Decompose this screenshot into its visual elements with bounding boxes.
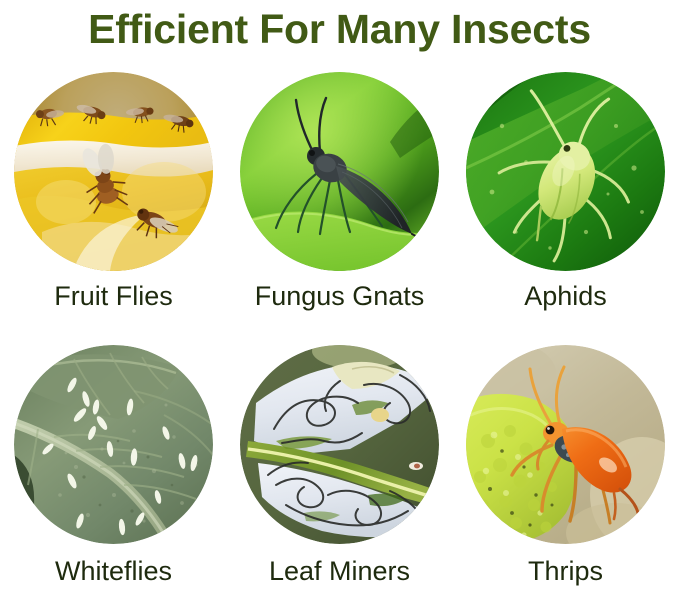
insect-cell-leaf-miners[interactable]: Leaf Miners — [240, 345, 439, 610]
insect-label: Fruit Flies — [54, 279, 173, 313]
insect-cell-fungus-gnats[interactable]: Fungus Gnats — [240, 72, 439, 337]
insect-label: Aphids — [524, 279, 607, 313]
insect-label: Leaf Miners — [269, 554, 410, 588]
aphid-photo — [466, 72, 665, 271]
insect-cell-thrips[interactable]: Thrips — [466, 345, 665, 610]
insect-row-2: Whiteflies — [0, 345, 679, 610]
insect-row-1: Fruit Flies — [0, 72, 679, 337]
fungus-gnat-photo — [240, 72, 439, 271]
insect-cell-whiteflies[interactable]: Whiteflies — [14, 345, 213, 610]
whiteflies-photo — [14, 345, 213, 544]
insect-grid: Fruit Flies — [0, 72, 679, 607]
insect-label: Fungus Gnats — [255, 279, 425, 313]
leaf-miners-photo — [240, 345, 439, 544]
insect-gallery-page: Efficient For Many Insects — [0, 0, 679, 607]
insect-label: Thrips — [528, 554, 603, 588]
page-title: Efficient For Many Insects — [0, 4, 679, 54]
fruit-flies-photo — [14, 72, 213, 271]
insect-cell-aphids[interactable]: Aphids — [466, 72, 665, 337]
thrips-photo — [466, 345, 665, 544]
insect-label: Whiteflies — [55, 554, 172, 588]
insect-cell-fruit-flies[interactable]: Fruit Flies — [14, 72, 213, 337]
